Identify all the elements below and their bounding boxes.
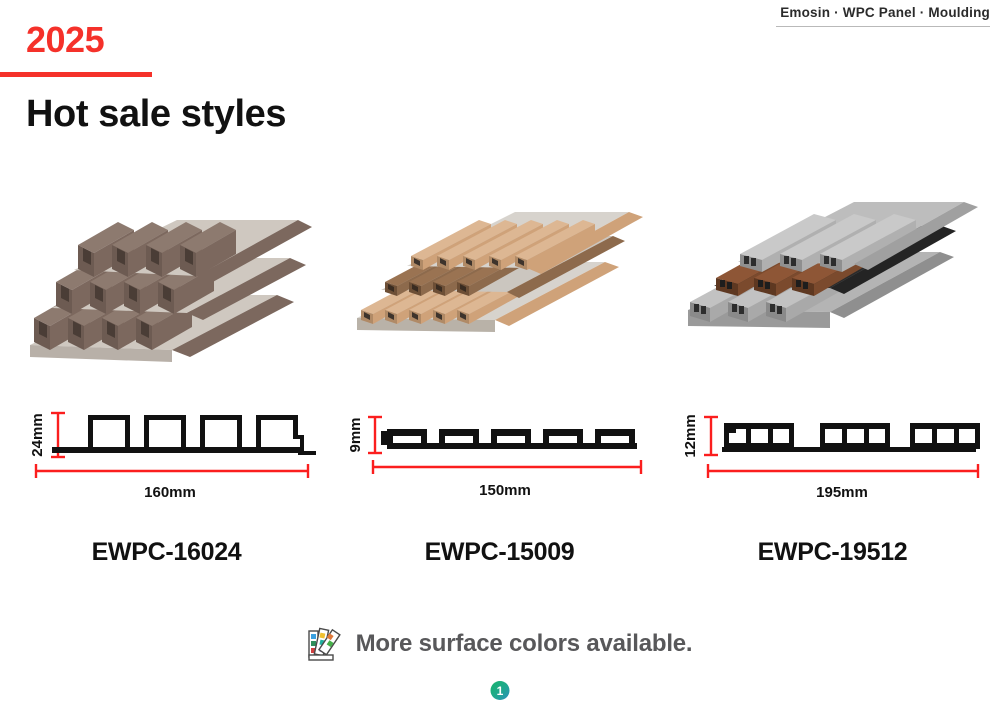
width-label-2: 150mm xyxy=(479,482,531,499)
product-photo-3 xyxy=(688,190,978,395)
product-card-1[interactable]: 24mm xyxy=(0,190,333,567)
profile-figure-3: 12mm xyxy=(678,403,988,508)
header-divider xyxy=(776,26,990,27)
product-photo-2 xyxy=(355,190,645,395)
color-swatch-icon xyxy=(308,627,342,661)
product-card-3[interactable]: 12mm xyxy=(666,190,999,567)
cross-section-15009: 9mm xyxy=(345,403,655,508)
width-label-1: 160mm xyxy=(144,484,196,501)
cross-section-16024: 24mm xyxy=(12,403,322,508)
product-code-2: EWPC-15009 xyxy=(425,538,575,567)
product-grid: 24mm xyxy=(0,190,1000,567)
year-label: 2025 xyxy=(26,22,104,58)
height-dimension-line xyxy=(368,417,382,453)
height-label-3: 12mm xyxy=(682,414,699,457)
product-card-2[interactable]: 9mm xyxy=(333,190,666,567)
footer-note-text: More surface colors available. xyxy=(356,630,693,658)
profile-figure-1: 24mm xyxy=(12,403,322,508)
panel-illustration-19512 xyxy=(688,190,978,395)
page-number-badge: 1 xyxy=(491,681,510,700)
profile-figure-2: 9mm xyxy=(345,403,655,508)
brand-label: Emosin · WPC Panel · Moulding xyxy=(780,5,990,20)
panel-illustration-15009 xyxy=(355,190,645,395)
product-photo-1 xyxy=(22,190,312,395)
profile-outline-1 xyxy=(52,415,316,455)
width-label-3: 195mm xyxy=(816,484,868,501)
page-header: Emosin · WPC Panel · Moulding xyxy=(0,0,1000,32)
panel-illustration-16024 xyxy=(22,190,312,395)
product-code-3: EWPC-19512 xyxy=(758,538,908,567)
red-accent-bar xyxy=(0,72,152,77)
profile-outline-3 xyxy=(722,423,980,452)
cross-section-19512: 12mm xyxy=(678,403,988,508)
width-dimension-line xyxy=(36,464,308,478)
height-label-2: 9mm xyxy=(347,417,364,452)
width-dimension-line xyxy=(373,460,641,474)
product-code-1: EWPC-16024 xyxy=(92,538,242,567)
width-dimension-line xyxy=(708,464,978,478)
footer-note: More surface colors available. xyxy=(0,627,1000,661)
page-title: Hot sale styles xyxy=(26,95,286,133)
height-label-1: 24mm xyxy=(29,413,46,456)
title-block: 2025 Hot sale styles xyxy=(26,22,104,58)
profile-outline-2 xyxy=(381,429,637,449)
height-dimension-line xyxy=(704,417,718,455)
